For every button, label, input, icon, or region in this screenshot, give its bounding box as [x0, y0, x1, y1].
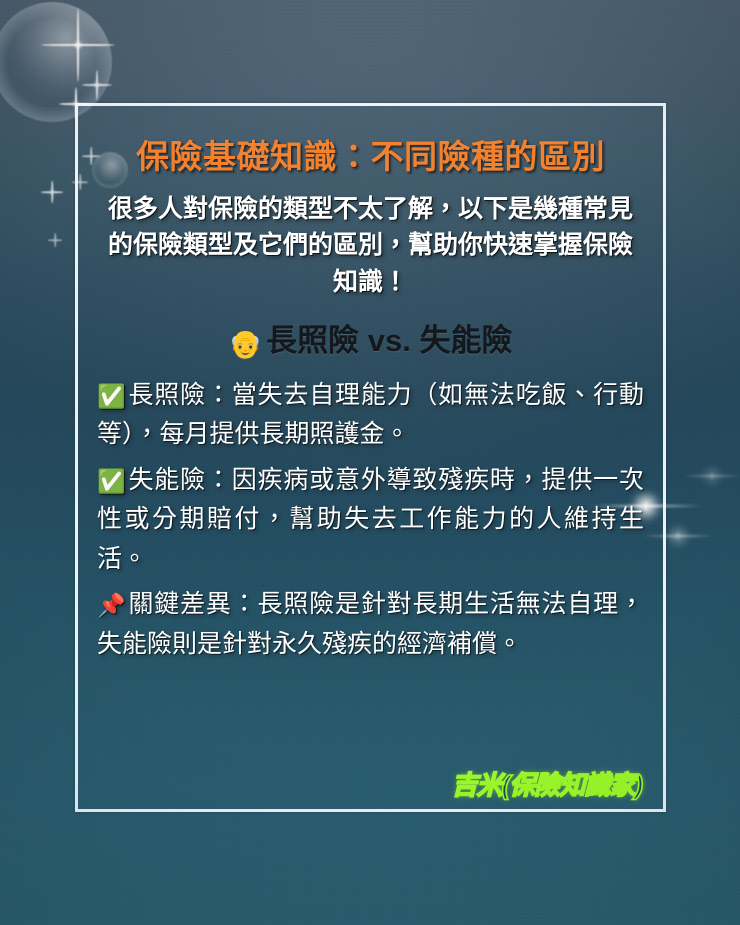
section-heading-label: 長照險 vs. 失能險 [266, 323, 512, 358]
poster-canvas: 保險基礎知識：不同險種的區別 很多人對保險的類型不太了解，以下是幾種常見的保險類… [0, 0, 740, 925]
list-item-text: 失能險：因疾病或意外導致殘疾時，提供一次性或分期賠付，幫助失去工作能力的人維持生… [97, 466, 644, 573]
list-item-text: 關鍵差異：長照險是針對長期生活無法自理，失能險則是針對永久殘疾的經濟補償。 [97, 590, 644, 658]
list-item: ✅失能險：因疾病或意外導致殘疾時，提供一次性或分期賠付，幫助失去工作能力的人維持… [97, 461, 644, 580]
pushpin-emoji: 📌 [97, 592, 126, 618]
intro-paragraph: 很多人對保險的類型不太了解，以下是幾種常見的保險類型及它們的區別，幫助你快速掌握… [107, 191, 634, 301]
author-watermark: 吉米(保險知識家) [452, 765, 642, 802]
check-mark-button-emoji: ✅ [97, 468, 126, 494]
sparkle-star-icon [41, 8, 115, 82]
bullet-list: ✅長照險：當失去自理能力（如無法吃飯、行動等），每月提供長期照護金。 ✅失能險：… [97, 376, 644, 665]
sparkle-star-icon [48, 233, 62, 247]
page-title: 保險基礎知識：不同險種的區別 [97, 137, 644, 177]
section-heading: 👴長照險 vs. 失能險 [97, 322, 644, 362]
sparkle-star-icon [41, 181, 63, 203]
older-person-emoji: 👴 [229, 329, 263, 359]
lens-flare-icon [682, 467, 740, 485]
list-item: ✅長照險：當失去自理能力（如無法吃飯、行動等），每月提供長期照護金。 [97, 376, 644, 455]
poster-content: 保險基礎知識：不同險種的區別 很多人對保險的類型不太了解，以下是幾種常見的保險類… [75, 103, 666, 812]
list-item-text: 長照險：當失去自理能力（如無法吃飯、行動等），每月提供長期照護金。 [97, 381, 644, 449]
list-item: 📌關鍵差異：長照險是針對長期生活無法自理，失能險則是針對永久殘疾的經濟補償。 [97, 585, 644, 664]
sparkle-star-icon [82, 70, 112, 100]
check-mark-button-emoji: ✅ [97, 383, 126, 409]
